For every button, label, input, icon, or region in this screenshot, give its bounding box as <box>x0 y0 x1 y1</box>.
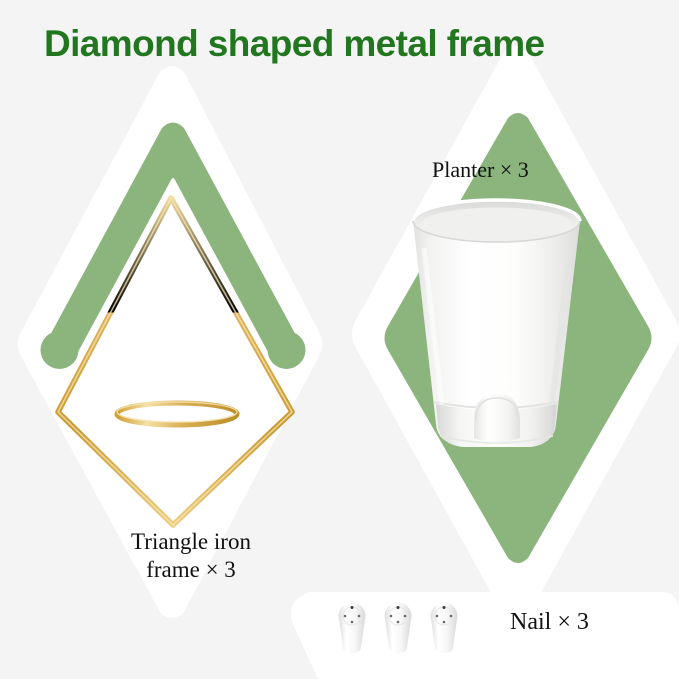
triangle-iron-frame-illustration <box>58 198 292 525</box>
caption-nail: Nail × 3 <box>510 608 660 636</box>
planter-illustration <box>413 200 580 447</box>
nail-hooks-group <box>339 603 458 654</box>
caption-triangle-iron-frame: Triangle iron frame × 3 <box>86 528 296 584</box>
product-infographic: Diamond shaped metal frame Triangle iron… <box>0 0 679 679</box>
nail-hook-icon <box>339 603 366 654</box>
caption-triangle-iron-frame-line1: Triangle iron <box>86 528 296 556</box>
diamond-icon <box>58 198 292 525</box>
nail-hook-icon <box>385 603 412 654</box>
page-title: Diamond shaped metal frame <box>44 22 658 66</box>
nail-hook-icon <box>431 603 458 654</box>
planter-water-indicator <box>474 394 520 443</box>
caption-planter: Planter × 3 <box>432 157 622 183</box>
caption-triangle-iron-frame-line2: frame × 3 <box>86 556 296 584</box>
